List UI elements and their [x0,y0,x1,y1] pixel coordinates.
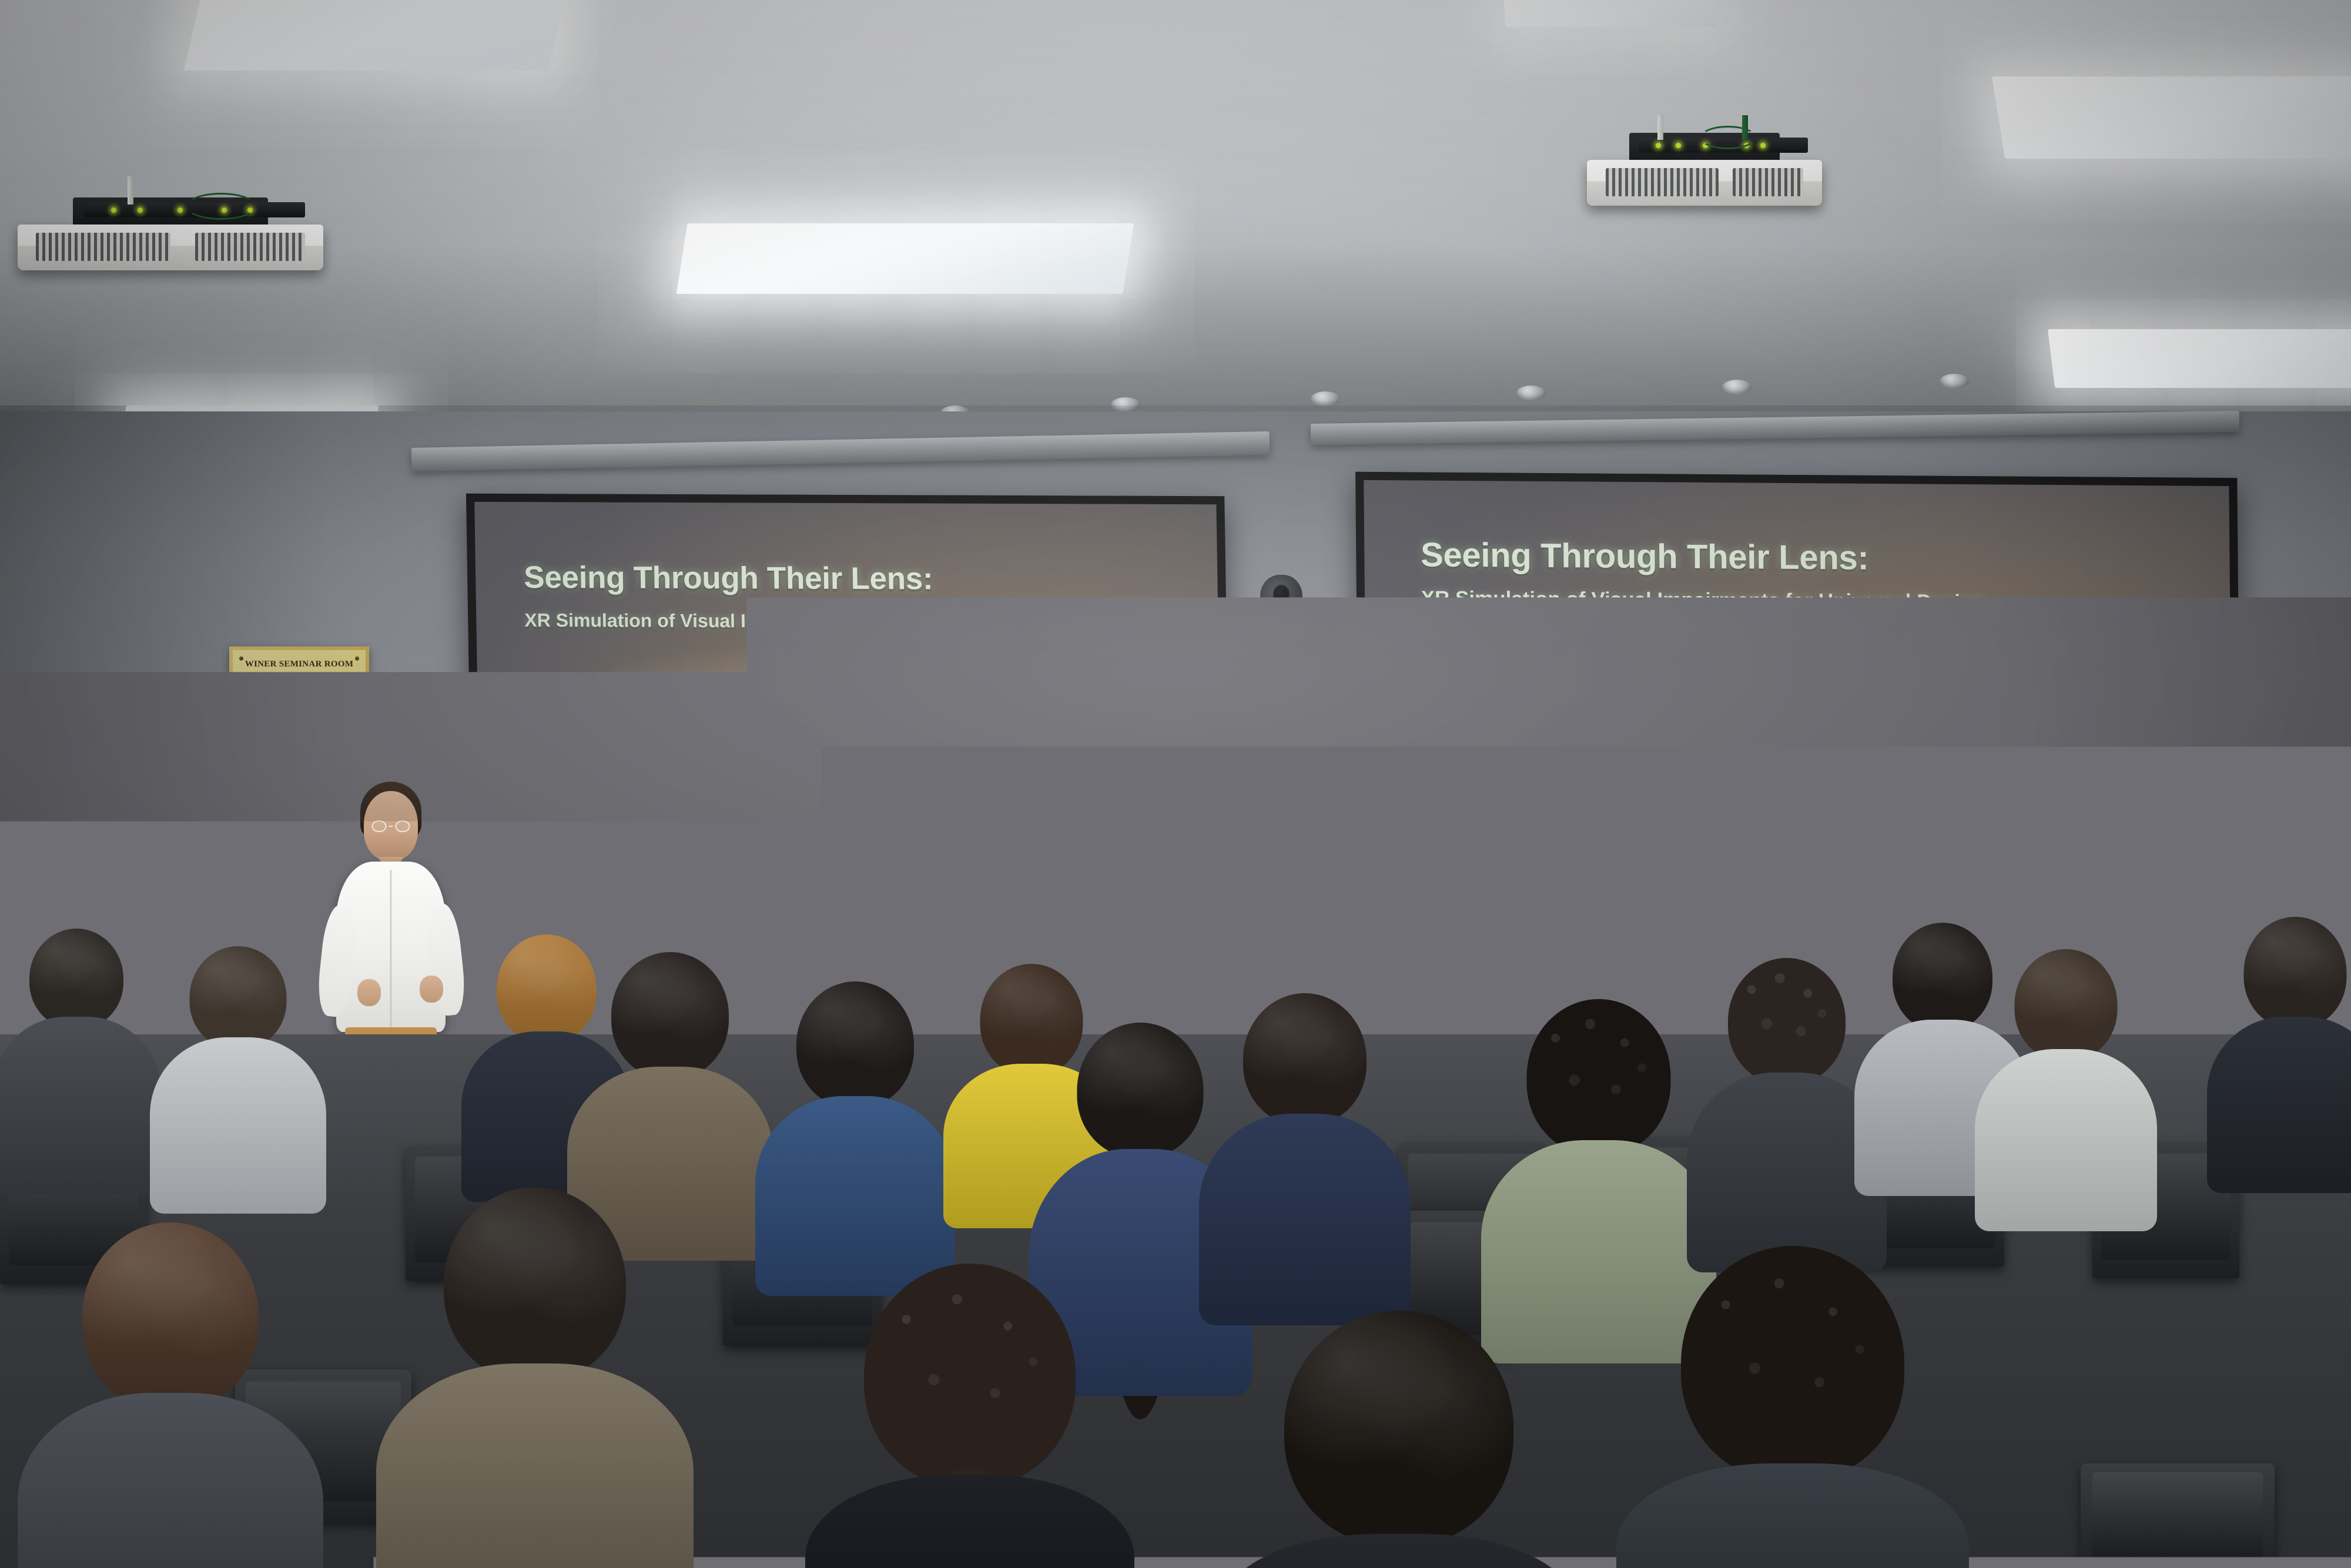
projector-vent [36,233,170,261]
torso [1223,1534,1575,1568]
shirt-wordmark: GEORGIA [2154,1402,2308,1432]
ceiling-speaker [1722,380,1751,394]
ceiling-speaker [1940,374,1969,388]
projector-pole [1742,115,1748,140]
status-led [1656,143,1661,148]
ceiling-speaker [1311,391,1340,406]
head [1681,1246,1904,1481]
attendee-front-2 [411,1187,658,1568]
ceiling-projector-right [1587,135,1822,217]
ceiling-light-panel [184,0,569,71]
status-led [111,207,116,213]
torso [1616,1463,1969,1568]
ceiling-projector-left [18,200,323,294]
projector-vent [195,233,305,261]
curly-hair-texture [1681,1246,1904,1481]
status-led [1760,143,1766,148]
head [82,1222,259,1410]
head [444,1187,626,1381]
attendee-front-3 [829,1264,1111,1568]
projector-body [1587,160,1822,206]
hair-texture [82,1222,259,1410]
status-led [1676,143,1681,148]
torso [805,1475,1134,1568]
ceiling-light-panel [1503,0,1717,27]
ceiling-light-panel [2048,329,2351,388]
hair-texture [2101,1181,2295,1375]
attendee-front-4 [1246,1311,1552,1568]
torso [18,1393,323,1568]
coiled-cable [186,193,256,220]
ceiling-light-panel [1992,76,2351,159]
projector-body [18,225,323,270]
attendee-georgia-shirt: GEORGIA [2045,1181,2351,1568]
shirt-graphic [2151,1428,2327,1552]
hair-texture [444,1187,626,1381]
ceiling-speaker [1516,386,1546,400]
status-led [178,207,183,213]
projector-pole [128,176,133,205]
attendee-front-5 [1646,1246,1940,1568]
projector-vent [1733,168,1803,196]
head [2101,1181,2295,1375]
ceiling-light-panel [676,223,1134,294]
torso [1199,1114,1411,1325]
wall-shading [0,406,2351,1070]
torso [376,1363,694,1568]
projector-vent [1606,168,1719,196]
curly-hair-texture [864,1264,1076,1487]
head [1284,1311,1513,1546]
head [864,1264,1076,1487]
status-led [138,207,143,213]
projector-pole [1657,115,1663,140]
attendee-front-left [53,1222,288,1568]
seminar-room-photo: WINER SEMINAR ROOM HONORING DR. WARD O. … [0,0,2351,1568]
hair-texture [1284,1311,1513,1546]
